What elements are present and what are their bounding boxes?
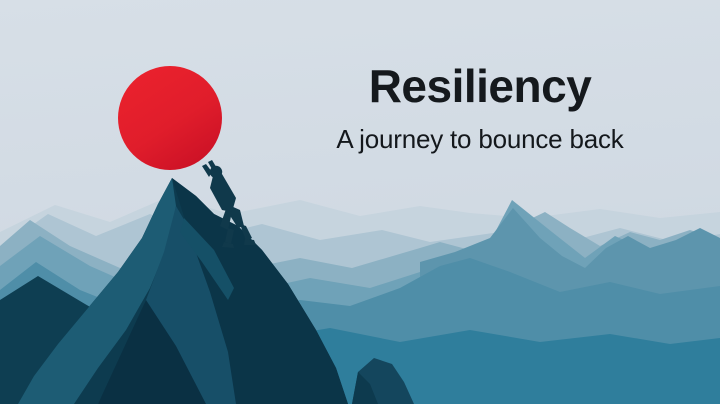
red-boulder (118, 66, 222, 170)
slide-canvas: Resiliency A journey to bounce back (0, 0, 720, 404)
page-subtitle: A journey to bounce back (270, 124, 690, 155)
slide-text-block: Resiliency A journey to bounce back (270, 62, 690, 155)
mountain-illustration (0, 0, 720, 404)
page-title: Resiliency (270, 62, 690, 110)
